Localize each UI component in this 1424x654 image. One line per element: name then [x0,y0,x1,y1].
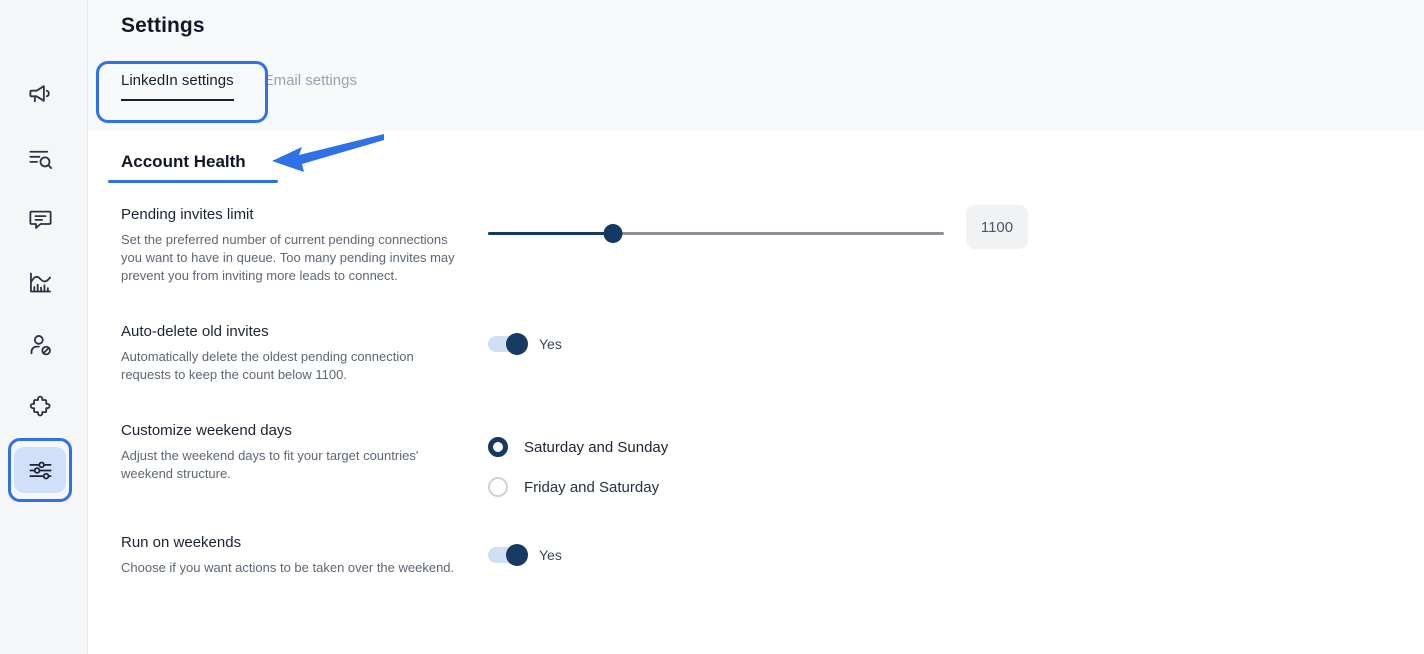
chat-bubble-icon [27,206,54,233]
run-weekends-toggle[interactable] [488,547,527,563]
radio-indicator[interactable] [488,437,508,457]
setting-row-weekend-days: Customize weekend days Adjust the weeken… [88,421,1424,507]
slider-thumb[interactable] [603,224,622,243]
sidebar-item-campaigns[interactable] [14,70,66,116]
sidebar-item-integrations[interactable] [14,384,66,430]
setting-description: Choose if you want actions to be taken o… [121,559,466,577]
tab-linkedin-settings[interactable]: LinkedIn settings [121,72,234,101]
blocked-user-icon [27,332,54,359]
sidebar-item-settings[interactable] [14,447,66,493]
left-nav-sidebar [0,0,88,654]
setting-control-block: 1100 [488,205,944,249]
main-content: Settings LinkedIn settings Email setting… [88,0,1424,654]
setting-description: Set the preferred number of current pend… [121,231,466,285]
radio-option-saturday-sunday[interactable]: Saturday and Sunday [488,427,668,467]
toggle-knob [506,544,528,566]
setting-control-block: Yes [488,322,562,352]
setting-label-block: Pending invites limit Set the preferred … [88,205,488,285]
toggle-label: Yes [539,547,562,563]
slider-fill [488,232,613,235]
sidebar-item-analytics[interactable] [14,259,66,305]
pending-invites-value[interactable]: 1100 [966,205,1028,249]
chart-icon [27,269,54,296]
setting-title: Customize weekend days [121,421,488,441]
setting-row-auto-delete: Auto-delete old invites Automatically de… [88,322,1424,384]
setting-description: Automatically delete the oldest pending … [121,348,466,384]
setting-row-pending-invites: Pending invites limit Set the preferred … [88,205,1424,285]
sidebar-item-leads[interactable] [14,135,66,181]
toggle-label: Yes [539,336,562,352]
puzzle-icon [27,394,54,421]
toggle-knob [506,333,528,355]
radio-label: Saturday and Sunday [524,439,668,456]
setting-label-block: Customize weekend days Adjust the weeken… [88,421,488,483]
weekend-days-radio-group: Saturday and Sunday Friday and Saturday [488,427,668,507]
section-heading-account-health: Account Health [121,152,246,180]
search-list-icon [27,145,54,172]
setting-control-block: Yes [488,533,562,563]
auto-delete-toggle-row: Yes [488,336,562,352]
setting-title: Auto-delete old invites [121,322,488,342]
settings-tabs: LinkedIn settings Email settings [121,72,357,101]
setting-description: Adjust the weekend days to fit your targ… [121,447,466,483]
setting-label-block: Run on weekends Choose if you want actio… [88,533,488,577]
radio-option-friday-saturday[interactable]: Friday and Saturday [488,467,668,507]
pending-invites-slider[interactable] [488,219,944,249]
tab-email-settings[interactable]: Email settings [264,72,357,99]
megaphone-icon [27,80,54,107]
setting-title: Run on weekends [121,533,488,553]
settings-page: Settings LinkedIn settings Email setting… [0,0,1424,654]
auto-delete-toggle[interactable] [488,336,527,352]
sliders-icon [27,457,54,484]
setting-row-run-weekends: Run on weekends Choose if you want actio… [88,533,1424,577]
page-title: Settings [121,14,205,38]
setting-label-block: Auto-delete old invites Automatically de… [88,322,488,384]
settings-rows: Pending invites limit Set the preferred … [88,205,1424,577]
section-underline [108,180,278,183]
radio-indicator[interactable] [488,477,508,497]
setting-title: Pending invites limit [121,205,488,225]
sidebar-item-inbox[interactable] [14,196,66,242]
radio-label: Friday and Saturday [524,479,659,496]
setting-control-block: Saturday and Sunday Friday and Saturday [488,421,668,507]
header-band [88,0,1424,131]
sidebar-item-blacklist[interactable] [14,322,66,368]
run-weekends-toggle-row: Yes [488,547,562,563]
